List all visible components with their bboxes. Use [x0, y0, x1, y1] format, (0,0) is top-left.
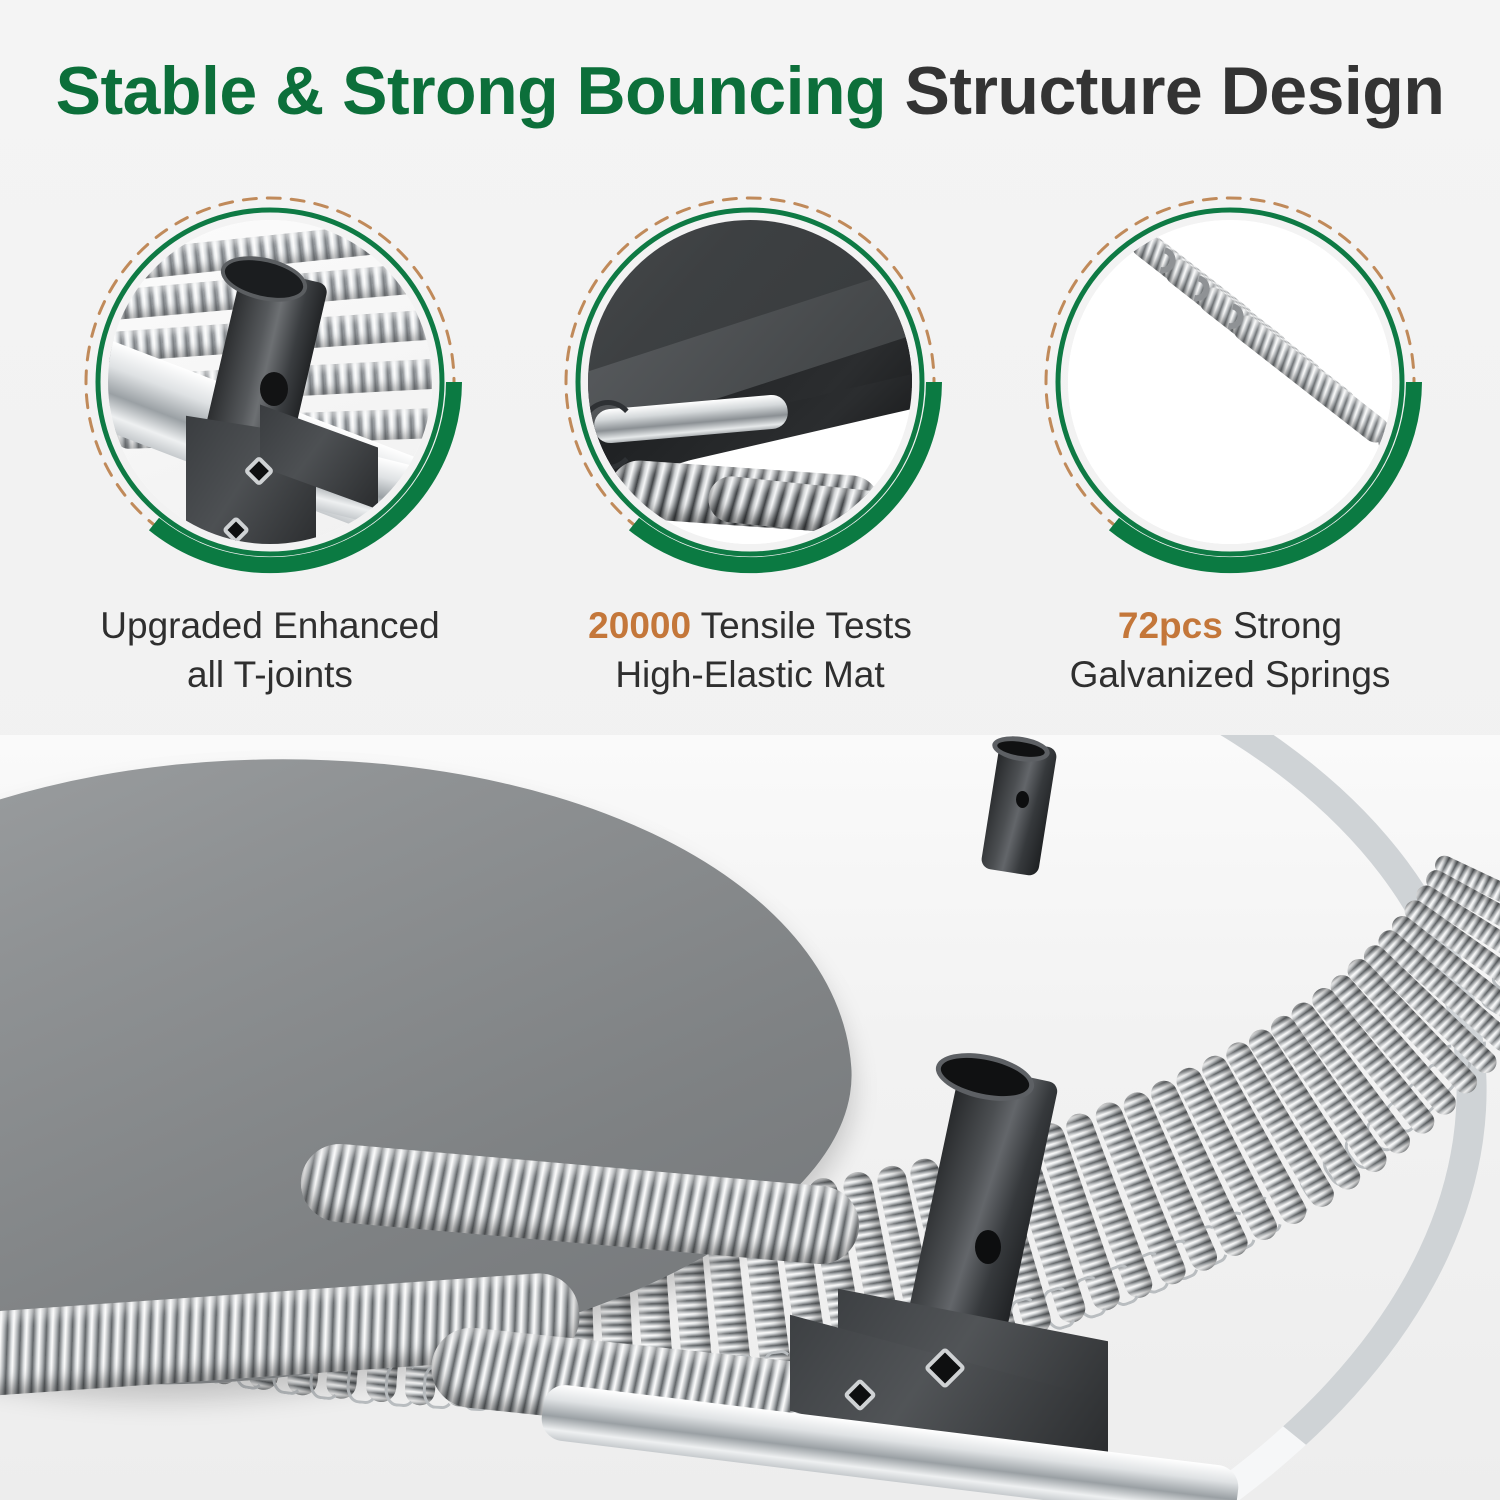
caption-line-1-rest: Tensile Tests: [691, 605, 912, 646]
feature-card-galvanized-springs: 72pcs Strong Galvanized Springs: [1030, 186, 1430, 700]
feature-card-high-elastic-mat: 20000 Tensile Tests High-Elastic Mat: [550, 186, 950, 700]
badge-thin-ring: [98, 210, 442, 554]
hero-product-photo: [0, 735, 1500, 1500]
badge-ring-high-elastic-mat: [554, 186, 946, 578]
caption-highlight: 72pcs: [1118, 605, 1223, 646]
caption-line-2: High-Elastic Mat: [588, 651, 912, 700]
badge-thin-ring: [1058, 210, 1402, 554]
badge-ring-galvanized-springs: [1034, 186, 1426, 578]
caption-line-1: 72pcs Strong: [1070, 602, 1391, 651]
feature-card-t-joints: Upgraded Enhanced all T-joints: [70, 186, 470, 700]
feature-row: Upgraded Enhanced all T-joints: [0, 186, 1500, 726]
badge-thin-ring: [578, 210, 922, 554]
badge-ring-t-joints: [74, 186, 466, 578]
caption-line-2: all T-joints: [100, 651, 439, 700]
pole-hole: [975, 1230, 1001, 1264]
feature-caption-t-joints: Upgraded Enhanced all T-joints: [100, 602, 439, 700]
page-title-dark: Structure Design: [904, 53, 1444, 129]
feature-badge-high-elastic-mat: [554, 186, 946, 578]
page-title: Stable & Strong Bouncing Structure Desig…: [0, 52, 1500, 130]
caption-highlight: 20000: [588, 605, 691, 646]
feature-caption-galvanized-springs: 72pcs Strong Galvanized Springs: [1070, 602, 1391, 700]
pole-hole: [1016, 791, 1029, 808]
feature-badge-galvanized-springs: [1034, 186, 1426, 578]
feature-badge-t-joints: [74, 186, 466, 578]
infographic-page: Stable & Strong Bouncing Structure Desig…: [0, 0, 1500, 1500]
caption-line-1: Upgraded Enhanced: [100, 602, 439, 651]
feature-caption-high-elastic-mat: 20000 Tensile Tests High-Elastic Mat: [588, 602, 912, 700]
page-title-green: Stable & Strong Bouncing: [56, 53, 886, 129]
caption-line-1: 20000 Tensile Tests: [588, 602, 912, 651]
caption-line-1-rest: Strong: [1223, 605, 1342, 646]
caption-line-2: Galvanized Springs: [1070, 651, 1391, 700]
